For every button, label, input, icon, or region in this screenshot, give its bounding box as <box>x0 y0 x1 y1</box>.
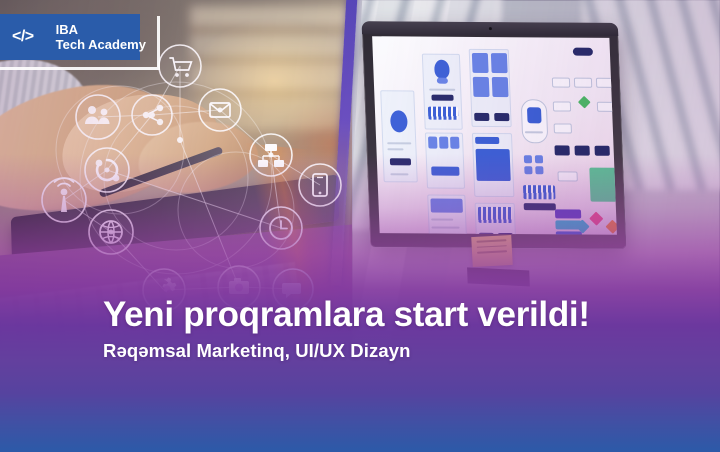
headline-block: Yeni proqramlara start verildi! Rəqəmsal… <box>103 296 663 362</box>
headline-title: Yeni proqramlara start verildi! <box>103 296 663 333</box>
sticky-note <box>471 235 513 267</box>
headline-subtitle: Rəqəmsal Marketinq, UI/UX Dizayn <box>103 340 663 362</box>
monitor-stand <box>467 267 530 286</box>
code-brackets-icon: </> <box>12 28 34 46</box>
logo-line-1: IBA <box>56 22 146 37</box>
logo[interactable]: </> IBA Tech Academy <box>0 14 140 60</box>
right-photo <box>352 0 720 452</box>
monitor-screen <box>372 36 617 235</box>
promo-banner: </> IBA Tech Academy Yeni proqramlara st… <box>0 0 720 452</box>
logo-text: IBA Tech Academy <box>56 22 146 53</box>
monitor <box>362 21 627 249</box>
webcam-icon <box>489 27 492 30</box>
logo-line-2: Tech Academy <box>56 37 146 52</box>
